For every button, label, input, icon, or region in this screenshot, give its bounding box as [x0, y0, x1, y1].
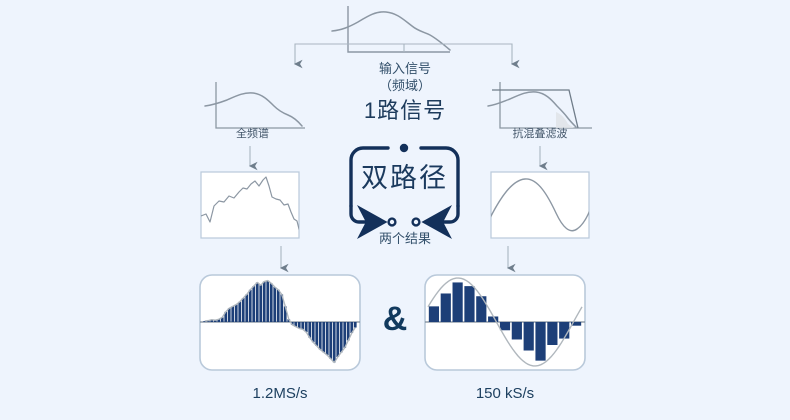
sample-bar [270, 283, 273, 322]
bracket-top-dot [400, 144, 408, 152]
bracket-dot-right [413, 219, 420, 226]
sample-bar [333, 322, 336, 362]
sample-bar [340, 322, 343, 352]
sample-bar [464, 286, 474, 322]
sample-bar [329, 322, 332, 359]
sample-bar [512, 322, 522, 339]
full-spectrum-caption: 全频谱 [205, 128, 300, 141]
ampersand-joiner: & [375, 300, 415, 339]
sample-bar [245, 294, 248, 322]
sample-bar [273, 287, 276, 322]
sample-bar [249, 290, 252, 322]
sample-bar [252, 286, 255, 322]
sample-bar [336, 322, 339, 357]
sample-bar [441, 293, 451, 322]
dual-path-badge-label: 双路径 [352, 163, 457, 194]
noisy-waveform-panel [201, 172, 311, 238]
diagram-canvas: 输入信号 （频域） 1路信号 全频谱 抗混叠滤波 双路径 两个结果 & 1.2M… [0, 0, 790, 420]
sample-bar [256, 282, 259, 322]
full-spectrum-plot [205, 82, 305, 128]
sample-bar [524, 322, 534, 351]
sample-bar [500, 322, 510, 330]
high-rate-sampling-panel [200, 275, 360, 370]
sample-bar [343, 322, 346, 348]
sine-waveform-panel [489, 172, 592, 238]
sample-bar [547, 322, 557, 345]
channel-count-label: 1路信号 [330, 98, 480, 123]
sample-bar [277, 290, 280, 322]
input-signal-label-line1: 输入信号 [330, 62, 480, 77]
sample-bar [326, 322, 329, 355]
sample-bar [476, 296, 486, 322]
bracket-dot-left [389, 219, 396, 226]
sample-bar [559, 322, 569, 339]
anti-alias-filter-plot [488, 82, 592, 128]
sample-bar [535, 322, 545, 361]
sample-bar [263, 282, 266, 322]
high-rate-label: 1.2MS/s [200, 385, 360, 402]
sample-bar [301, 322, 304, 329]
sample-bar [453, 282, 463, 322]
sample-bar [322, 322, 325, 352]
input-signal-plot [332, 6, 450, 52]
two-results-label: 两个结果 [340, 232, 470, 247]
sample-bar [319, 322, 322, 350]
input-signal-label-line2: （频域） [330, 79, 480, 94]
sample-bar [231, 306, 234, 322]
sample-bar [228, 308, 231, 322]
sample-bar [429, 306, 439, 322]
sample-bar [259, 285, 262, 322]
sample-bar [266, 281, 269, 322]
sample-bar [312, 322, 315, 342]
sample-bar [242, 298, 245, 322]
sample-bar [238, 302, 241, 322]
anti-alias-caption: 抗混叠滤波 [490, 128, 590, 141]
box-to-result-arrows [281, 246, 508, 268]
sample-bar [315, 322, 318, 346]
sample-bar [354, 322, 357, 328]
low-rate-label: 150 kS/s [425, 385, 585, 402]
low-rate-sampling-panel [425, 275, 585, 370]
sample-bar [235, 305, 238, 322]
